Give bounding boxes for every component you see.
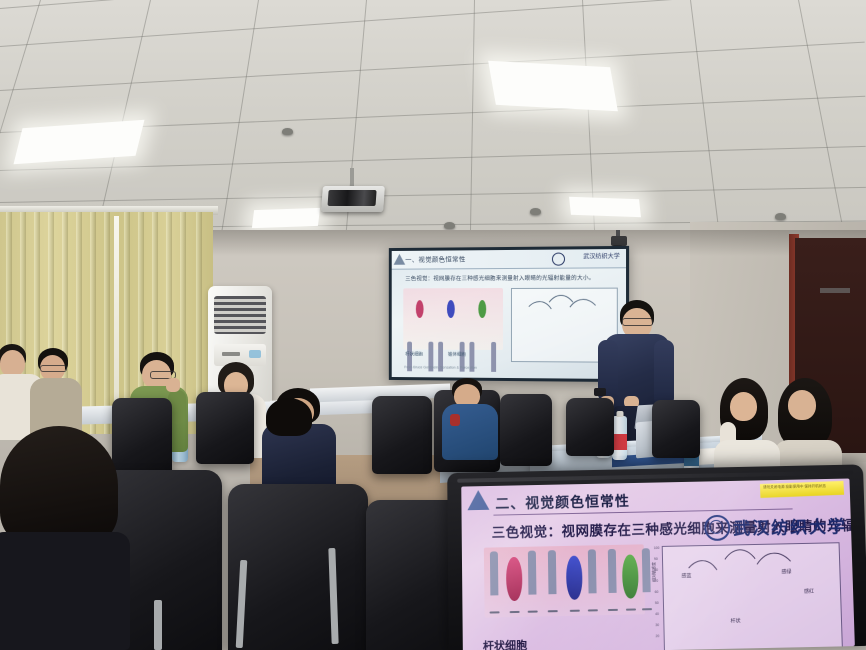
chair-3[interactable] bbox=[372, 396, 432, 474]
smoke-detector-2 bbox=[530, 208, 541, 215]
y-tick-6: 40 bbox=[655, 612, 659, 616]
cone-cell-red bbox=[506, 557, 523, 601]
y-tick-0: 100 bbox=[654, 546, 660, 550]
laptop-slide-university: 武汉纺织大学 bbox=[733, 512, 847, 539]
audience-person-7-foreground bbox=[0, 426, 126, 650]
projected-slide: 一、视觉颜色恒常性 武汉纺织大学 三色视觉：视网膜存在三种感光细胞来测量射入眼睛… bbox=[392, 249, 626, 379]
slide-logo-triangle-icon bbox=[394, 254, 406, 265]
audience-person-front-center bbox=[250, 398, 330, 518]
smoke-detector-3 bbox=[775, 213, 786, 220]
audience-person-6-blue bbox=[440, 378, 502, 460]
projector-slide-title: 一、视觉颜色恒常性 bbox=[405, 253, 465, 263]
slide-logo-triangle-icon bbox=[467, 490, 489, 510]
projector-slide-citation: From Bruce Goldstein, Sensation & Percep… bbox=[404, 365, 477, 369]
projector-mount-rod bbox=[350, 168, 354, 188]
curve-label-rod: 杆状 bbox=[730, 617, 740, 624]
ceiling-light-3 bbox=[252, 208, 320, 228]
presenter-glasses-icon bbox=[622, 318, 653, 326]
water-bottle-2[interactable] bbox=[612, 416, 627, 460]
y-tick-1: 90 bbox=[654, 557, 658, 561]
door-push-bar[interactable] bbox=[820, 288, 850, 293]
y-tick-8: 20 bbox=[656, 634, 660, 638]
y-tick-5: 50 bbox=[655, 601, 659, 605]
rod-cell-label: 杆状细胞 bbox=[483, 637, 527, 650]
projector-cone-label: 锥体细胞 bbox=[448, 352, 466, 358]
projector-slide-logo-icon bbox=[552, 253, 565, 266]
chair-6[interactable] bbox=[566, 398, 614, 456]
projector-retina-diagram bbox=[403, 288, 503, 350]
cone-cell-blue bbox=[566, 556, 583, 600]
projector-rod-label: 杆状细胞 bbox=[405, 351, 423, 357]
curve-label-red: 感红 bbox=[804, 588, 814, 595]
y-tick-7: 30 bbox=[655, 623, 659, 627]
chair-leg-3 bbox=[154, 600, 162, 650]
shirt-emblem bbox=[450, 414, 460, 426]
ceiling-projector bbox=[321, 186, 385, 212]
curve-label-green: 感绿 bbox=[781, 568, 791, 575]
smoke-detector-4 bbox=[444, 222, 455, 229]
projector-slide-university: 武汉纺织大学 bbox=[583, 251, 620, 260]
ac-grille bbox=[214, 296, 266, 334]
ac-brand-badge bbox=[222, 352, 240, 356]
bottle-cap bbox=[616, 411, 623, 417]
curve-label-blue: 感蓝 bbox=[681, 572, 691, 579]
presenter-right-arm bbox=[654, 340, 674, 406]
chair-5[interactable] bbox=[500, 394, 552, 466]
ac-display bbox=[249, 350, 261, 358]
laptop-slide-title: 二、视觉颜色恒常性 bbox=[495, 491, 630, 514]
chair-2[interactable] bbox=[196, 392, 254, 464]
projector-lens bbox=[328, 190, 377, 206]
ceiling-light-1 bbox=[14, 120, 145, 165]
ceiling-light-2 bbox=[488, 61, 618, 111]
cone-cell-green bbox=[622, 554, 639, 598]
classroom-photo: 一、视觉颜色恒常性 武汉纺织大学 三色视觉：视网膜存在三种感光细胞来测量射入眼睛… bbox=[0, 0, 866, 650]
bottle-label bbox=[612, 434, 627, 450]
projection-screen: 一、视觉颜色恒常性 武汉纺织大学 三色视觉：视网膜存在三种感光细胞来测量射入眼睛… bbox=[389, 246, 629, 382]
laptop-slide: 二、视觉颜色恒常性 三色视觉：视网膜存在三种感光细胞来测量射入眼睛的光辐射能量的… bbox=[461, 479, 855, 650]
ceiling-light-4 bbox=[569, 197, 641, 217]
chair-7[interactable] bbox=[652, 400, 700, 458]
spectral-sensitivity-chart: 感蓝 感绿 感红 杆状 bbox=[662, 542, 843, 650]
smoke-detector-1 bbox=[282, 128, 293, 135]
curtain-light-gap bbox=[114, 216, 119, 426]
foreground-laptop[interactable]: 二、视觉颜色恒常性 三色视觉：视网膜存在三种感光细胞来测量射入眼睛的光辐射能量的… bbox=[447, 464, 866, 650]
projector-slide-body: 三色视觉：视网膜存在三种感光细胞来测量射入眼睛的光辐射能量的大小。 bbox=[405, 274, 594, 283]
chart-y-axis-label: 相对敏感度 bbox=[651, 562, 657, 582]
presentation-clicker[interactable] bbox=[594, 388, 606, 396]
y-tick-4: 60 bbox=[655, 590, 659, 594]
